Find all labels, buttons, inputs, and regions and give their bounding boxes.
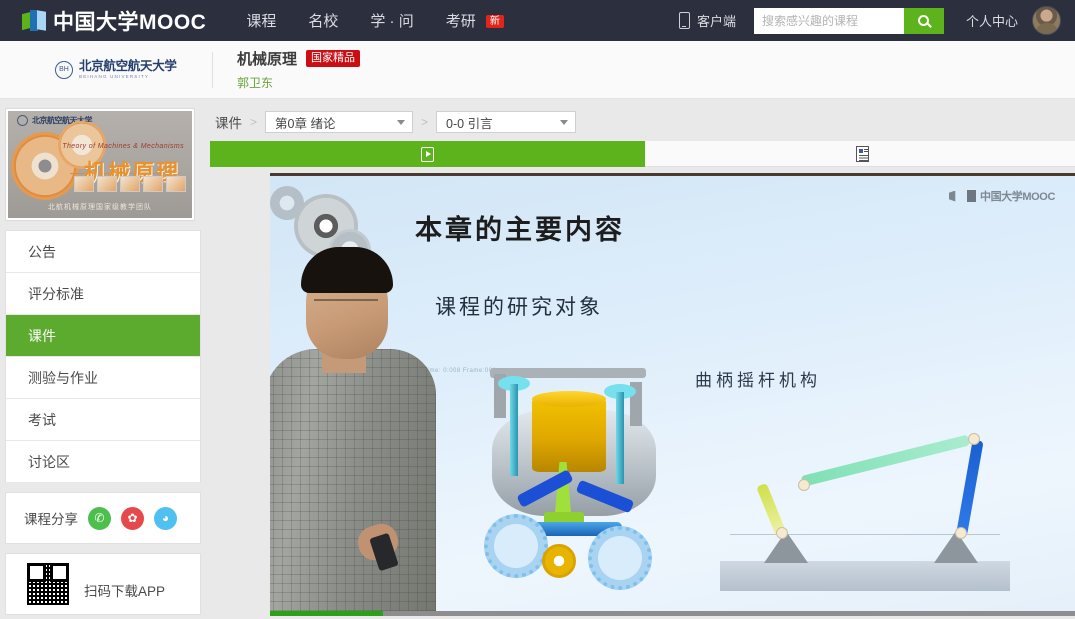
- chapter-select-value: 第0章 绪论: [275, 113, 335, 132]
- card-thumbnail-strip: [74, 176, 186, 192]
- four-bar-linkage-diagram: [710, 401, 1030, 591]
- video-watermark: 中国大学MOOC: [949, 188, 1055, 204]
- linkage-coupler: [801, 435, 971, 487]
- app-download-label: 扫码下载APP: [84, 580, 165, 614]
- site-logo-text: 中国大学MOOC: [53, 6, 206, 36]
- slide-subtitle: 课程的研究对象: [435, 291, 603, 321]
- new-badge: 新: [486, 15, 504, 28]
- client-label: 客户端: [697, 11, 736, 30]
- slide-title: 本章的主要内容: [415, 208, 625, 247]
- timing-gear: [542, 544, 576, 578]
- sidebar-item-exam-label: 考试: [28, 410, 56, 430]
- national-quality-badge: 国家精品: [306, 50, 360, 67]
- course-title: 机械原理: [237, 48, 297, 69]
- presenter-glasses: [314, 299, 378, 311]
- site-logo[interactable]: 中国大学MOOC: [22, 6, 206, 36]
- presenter-shirt: [270, 349, 436, 611]
- search-input[interactable]: [754, 8, 904, 34]
- chapter-select[interactable]: 第0章 绪论: [265, 111, 413, 133]
- client-download-link[interactable]: 客户端: [679, 11, 736, 30]
- page-body: 北京航空航天大学 Theory of Machines & Mechanisms…: [0, 99, 1075, 619]
- search-icon: [918, 15, 929, 26]
- sidebar-item-grading-label: 评分标准: [28, 284, 84, 304]
- valve-stem-right: [616, 392, 624, 484]
- valve-stem-left: [510, 384, 518, 476]
- primary-nav: 课程 名校 学 · 问 考研 新: [246, 10, 536, 31]
- course-share-section: 课程分享 ✆ ✿ ◕: [5, 492, 201, 544]
- course-teacher[interactable]: 郭卫东: [237, 74, 360, 91]
- qq-icon[interactable]: ◕: [154, 507, 177, 530]
- sidebar-item-courseware[interactable]: 课件: [6, 315, 200, 357]
- flywheel-left: [484, 514, 548, 578]
- search-box: [754, 8, 944, 34]
- linkage-base: [720, 561, 1010, 591]
- top-navigation-bar: 中国大学MOOC 课程 名校 学 · 问 考研 新 客户端 个人中心: [0, 0, 1075, 41]
- chevron-down-icon: [397, 120, 405, 125]
- sidebar-menu: 公告 评分标准 课件 测验与作业 考试 讨论区: [5, 230, 201, 483]
- mechanism-label: 曲柄摇杆机构: [695, 366, 821, 391]
- nav-link-postgrad-label: 考研: [446, 13, 476, 30]
- nav-right-group: 客户端 个人中心: [679, 6, 1061, 35]
- nav-link-qa-label: 学 · 问: [370, 13, 413, 30]
- breadcrumb: 课件 > 第0章 绪论 > 0-0 引言: [210, 108, 1075, 136]
- breadcrumb-separator-1: >: [250, 115, 257, 129]
- tab-video[interactable]: [210, 141, 645, 167]
- header-divider: [212, 52, 213, 88]
- linkage-joint-1: [776, 527, 788, 539]
- nav-link-schools[interactable]: 名校: [308, 10, 338, 31]
- course-header-bar: BH 北京航空航天大学 BEIHANG UNIVERSITY 机械原理 国家精品…: [0, 41, 1075, 99]
- content-type-tabs: [210, 141, 1075, 167]
- video-player[interactable]: 中国大学MOOC 本章的主要内容 课程的研究对象 Lect_Run Time: …: [270, 173, 1075, 611]
- linkage-rocker: [956, 440, 984, 536]
- share-label: 课程分享: [24, 508, 78, 528]
- nav-link-postgrad[interactable]: 考研 新: [446, 10, 504, 31]
- linkage-joint-2: [955, 527, 967, 539]
- nav-link-courses-label: 课程: [246, 13, 276, 30]
- university-name: 北京航空航天大学: [79, 60, 177, 73]
- nav-link-qa[interactable]: 学 · 问: [370, 10, 413, 31]
- watermark-logo-icon: [949, 191, 964, 202]
- avatar[interactable]: [1032, 6, 1061, 35]
- card-footer-text: 北航机械原理国家级教学团队: [8, 202, 192, 212]
- chevron-down-icon: [560, 120, 568, 125]
- tab-document[interactable]: [645, 141, 1075, 167]
- flywheel-right: [588, 526, 652, 590]
- sidebar-item-courseware-label: 课件: [28, 326, 56, 346]
- video-icon: [421, 147, 434, 162]
- phone-icon: [679, 12, 690, 29]
- course-meta: 机械原理 国家精品 郭卫东: [237, 48, 360, 91]
- qr-code-icon: [22, 558, 74, 610]
- lesson-select[interactable]: 0-0 引言: [436, 111, 576, 133]
- main-content: 课件 > 第0章 绪论 > 0-0 引言: [210, 108, 1075, 619]
- app-download-section: 扫码下载APP: [5, 553, 201, 615]
- sidebar-item-grading[interactable]: 评分标准: [6, 273, 200, 315]
- piston: [532, 398, 606, 472]
- sidebar-item-discussion-label: 讨论区: [28, 452, 70, 472]
- linkage-joint-4: [968, 433, 980, 445]
- card-title-en: Theory of Machines & Mechanisms: [62, 143, 184, 150]
- presenter-figure: [270, 173, 438, 611]
- video-watermark-text: 中国大学MOOC: [980, 188, 1055, 204]
- university-logo[interactable]: BH 北京航空航天大学 BEIHANG UNIVERSITY: [55, 57, 190, 83]
- engine-animation: [470, 362, 670, 580]
- university-name-en: BEIHANG UNIVERSITY: [79, 74, 177, 79]
- breadcrumb-root[interactable]: 课件: [215, 112, 242, 132]
- sidebar-item-announcements-label: 公告: [28, 242, 56, 262]
- linkage-joint-3: [798, 479, 810, 491]
- course-cover-card[interactable]: 北京航空航天大学 Theory of Machines & Mechanisms…: [5, 108, 195, 221]
- breadcrumb-separator-2: >: [421, 115, 428, 129]
- nav-link-courses[interactable]: 课程: [246, 10, 276, 31]
- presenter-hair: [301, 247, 393, 293]
- sidebar: 北京航空航天大学 Theory of Machines & Mechanisms…: [5, 108, 201, 619]
- card-seal-icon: [17, 115, 28, 126]
- mooc-logo-icon: [22, 10, 46, 32]
- sidebar-item-quiz-homework[interactable]: 测验与作业: [6, 357, 200, 399]
- video-player-wrapper: 中国大学MOOC 本章的主要内容 课程的研究对象 Lect_Run Time: …: [210, 173, 1075, 616]
- weibo-icon[interactable]: ✿: [121, 507, 144, 530]
- video-progress-bar[interactable]: [270, 611, 1075, 616]
- sidebar-item-quiz-homework-label: 测验与作业: [28, 368, 98, 388]
- document-icon: [856, 146, 869, 162]
- nav-link-schools-label: 名校: [308, 13, 338, 30]
- sidebar-item-exam[interactable]: 考试: [6, 399, 200, 441]
- wechat-icon[interactable]: ✆: [88, 507, 111, 530]
- university-seal-icon: BH: [55, 61, 73, 79]
- video-progress-fill: [270, 611, 383, 616]
- search-button[interactable]: [904, 8, 944, 34]
- lesson-select-value: 0-0 引言: [446, 113, 493, 132]
- watermark-logo-icon-2: [967, 190, 976, 202]
- user-center-link[interactable]: 个人中心: [966, 11, 1018, 30]
- sidebar-item-announcements[interactable]: 公告: [6, 231, 200, 273]
- sidebar-item-discussion[interactable]: 讨论区: [6, 441, 200, 483]
